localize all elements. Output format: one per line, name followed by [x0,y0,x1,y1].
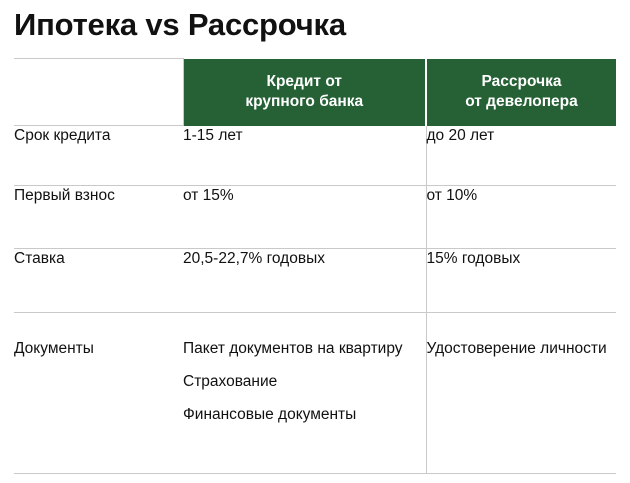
table-header-row: Кредит от крупного банка Рассрочка от де… [14,59,616,126]
row-label-documents: Документы [14,313,183,474]
header-cell-bank: Кредит от крупного банка [183,59,426,126]
cell-documents-bank: Пакет документов на квартиру Страхование… [183,313,426,474]
cell-term-bank: 1-15 лет [183,126,426,186]
list-item: Пакет документов на квартиру [183,339,426,358]
cell-down-payment-bank: от 15% [183,186,426,249]
row-label-down-payment: Первый взнос [14,186,183,249]
table-row: Документы Пакет документов на квартиру С… [14,313,616,474]
list-item: Финансовые документы [183,405,426,424]
cell-documents-developer: Удостоверение личности [426,313,616,474]
cell-rate-developer: 15% годовых [426,249,616,313]
header-cell-bank-line2: крупного банка [245,93,363,110]
header-cell-bank-line1: Кредит от [267,73,343,90]
row-label-term: Срок кредита [14,126,183,186]
list-item: Страхование [183,372,426,391]
comparison-table: Кредит от крупного банка Рассрочка от де… [14,58,616,474]
header-corner-cell [14,59,183,126]
header-cell-developer-line1: Рассрочка [482,73,562,90]
table-row: Первый взнос от 15% от 10% [14,186,616,249]
cell-term-developer: до 20 лет [426,126,616,186]
cell-down-payment-developer: от 10% [426,186,616,249]
header-cell-developer: Рассрочка от девелопера [426,59,616,126]
comparison-infographic: Ипотека vs Рассрочка Кредит от крупного … [0,0,630,483]
row-label-rate: Ставка [14,249,183,313]
table-row: Срок кредита 1-15 лет до 20 лет [14,126,616,186]
header-cell-developer-line2: от девелопера [465,93,578,110]
cell-rate-bank: 20,5-22,7% годовых [183,249,426,313]
page-title: Ипотека vs Рассрочка [14,6,614,44]
documents-list-bank: Пакет документов на квартиру Страхование… [183,339,426,424]
table-row: Ставка 20,5-22,7% годовых 15% годовых [14,249,616,313]
